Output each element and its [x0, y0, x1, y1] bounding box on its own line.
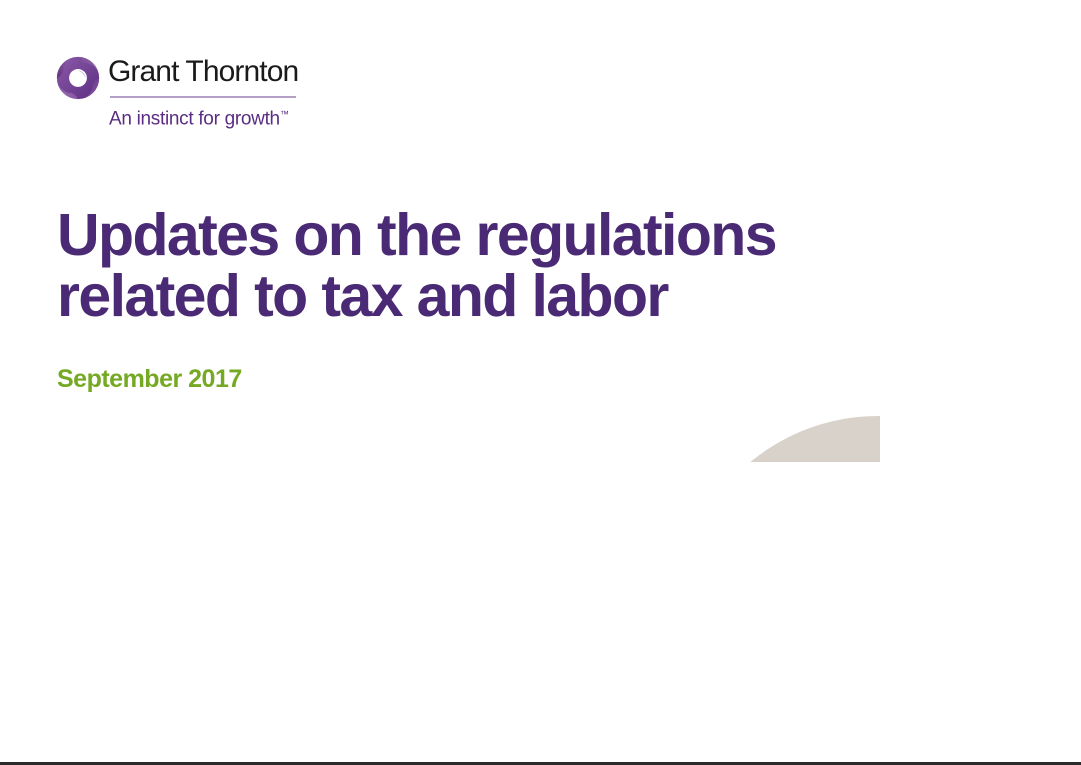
grant-thornton-swirl-mark-icon	[56, 56, 100, 100]
brand-logo: Grant Thornton An instinct for growth™	[56, 52, 356, 136]
brand-tagline: An instinct for growth™	[109, 100, 289, 133]
brand-wordmark: Grant Thornton	[108, 54, 298, 90]
cover-slide: Grant Thornton An instinct for growth™	[0, 0, 1081, 765]
page-title: Updates on the regulations related to ta…	[57, 205, 857, 327]
concentric-spiral-graphic	[560, 300, 1081, 765]
slide-date: September 2017	[57, 365, 242, 394]
middle-green-band	[655, 468, 1033, 765]
inner-purple-band	[776, 540, 984, 748]
brand-tagline-text: An instinct for growth	[109, 108, 280, 129]
spiral-center	[852, 616, 908, 672]
outer-taupe-band	[669, 416, 1063, 765]
title-block: Updates on the regulations related to ta…	[57, 205, 857, 327]
brand-divider-rule	[110, 96, 296, 98]
trademark-symbol: ™	[280, 109, 289, 119]
